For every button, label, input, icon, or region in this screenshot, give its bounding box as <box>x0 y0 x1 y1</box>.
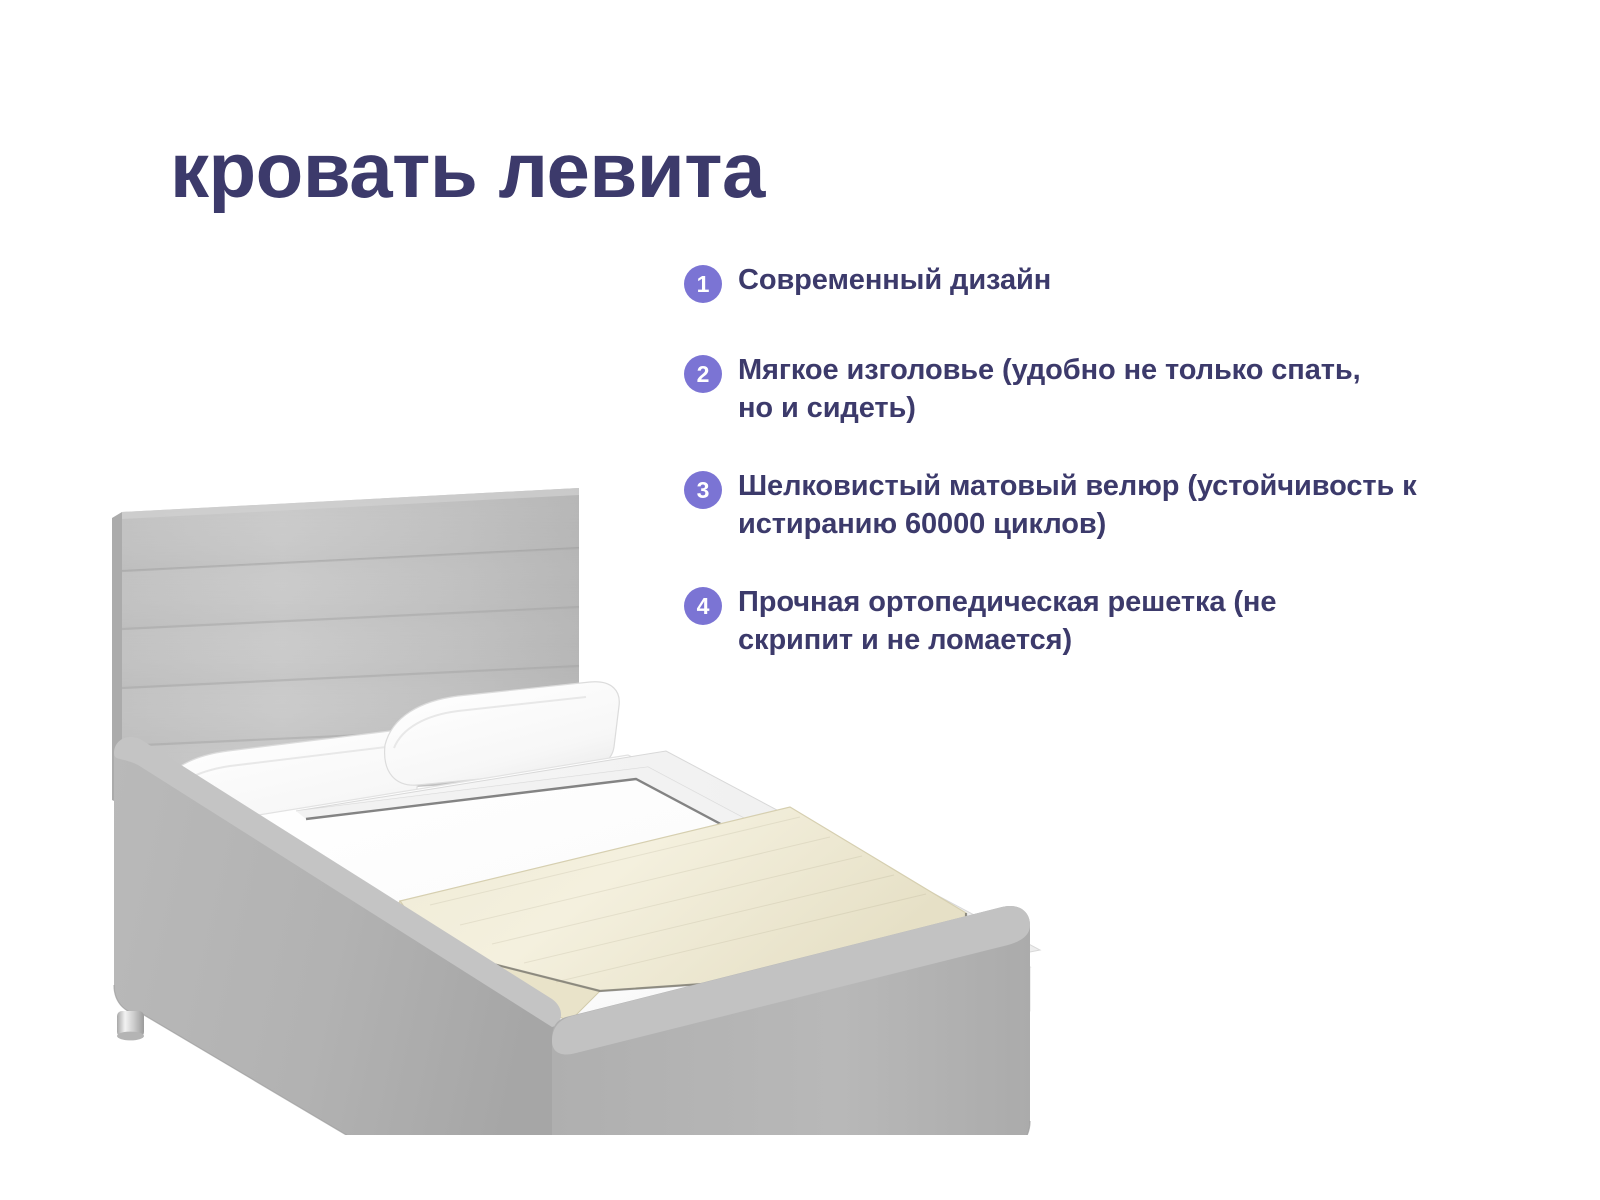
product-image-bed <box>100 455 1060 1135</box>
feature-badge-2: 2 <box>684 355 722 393</box>
page-title: кровать левита <box>170 131 765 209</box>
feature-label-1: Современный дизайн <box>738 262 1051 300</box>
feature-item-2: 2 Мягкое изголовье (удобно не только спа… <box>684 352 1384 427</box>
feature-label-2: Мягкое изголовье (удобно не только спать… <box>738 352 1384 427</box>
infographic-canvas: кровать левита 1 Современный дизайн 2 Мя… <box>0 0 1600 1200</box>
leg-rear-left <box>117 1011 144 1040</box>
feature-item-1: 1 Современный дизайн <box>684 262 1244 303</box>
feature-badge-1: 1 <box>684 265 722 303</box>
